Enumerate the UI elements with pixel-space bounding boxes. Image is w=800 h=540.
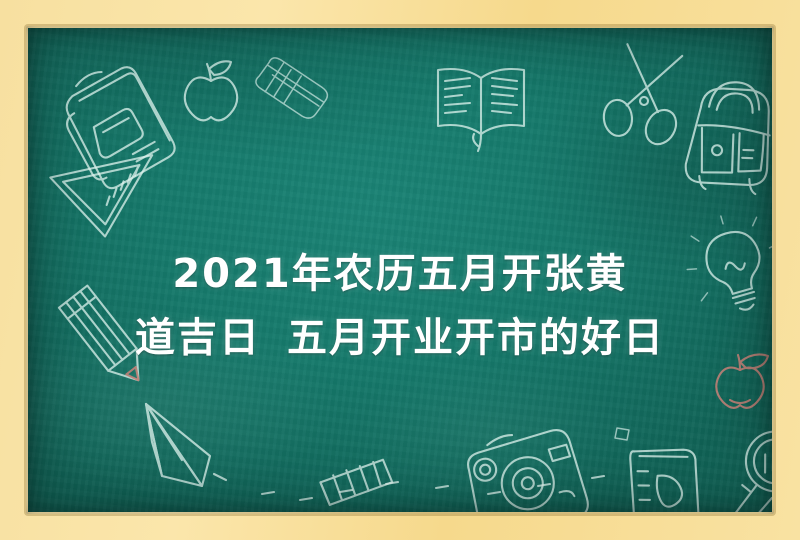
chalkboard-banner: 2021年农历五月开张黄 道吉日五月开业开市的好日 — [0, 0, 800, 540]
magnifier-icon — [716, 426, 772, 512]
board-grain-texture — [28, 28, 772, 512]
headline-line-2-part-1: 道吉日 — [135, 315, 261, 361]
ruler-icon — [318, 460, 398, 510]
headline-line-2-part-2: 五月开业开市的好日 — [287, 315, 665, 361]
pencil-icon — [58, 278, 158, 398]
stapler-icon — [613, 426, 733, 512]
headline-line-1: 2021年农历五月开张黄 — [28, 242, 772, 306]
red-apple-icon — [706, 348, 772, 418]
eraser-icon — [243, 60, 333, 132]
triangle-ruler-icon — [46, 156, 166, 244]
scissors-icon — [600, 40, 700, 145]
camera-icon — [458, 428, 588, 512]
board-chalk-smudge — [28, 28, 772, 512]
backpack-sketch-icon — [56, 58, 186, 193]
chalkboard-surface: 2021年农历五月开张黄 道吉日五月开业开市的好日 — [28, 28, 772, 512]
lightbulb-icon — [688, 218, 772, 320]
apple-icon — [176, 56, 246, 128]
board-vignette — [28, 28, 772, 512]
headline-line-2: 道吉日五月开业开市的好日 — [28, 306, 772, 370]
page-title: 2021年农历五月开张黄 道吉日五月开业开市的好日 — [28, 242, 772, 370]
chalk-dust-trail — [208, 468, 638, 512]
school-bag-icon — [676, 70, 772, 190]
open-book-icon — [426, 56, 536, 156]
paper-plane-icon — [138, 398, 258, 508]
